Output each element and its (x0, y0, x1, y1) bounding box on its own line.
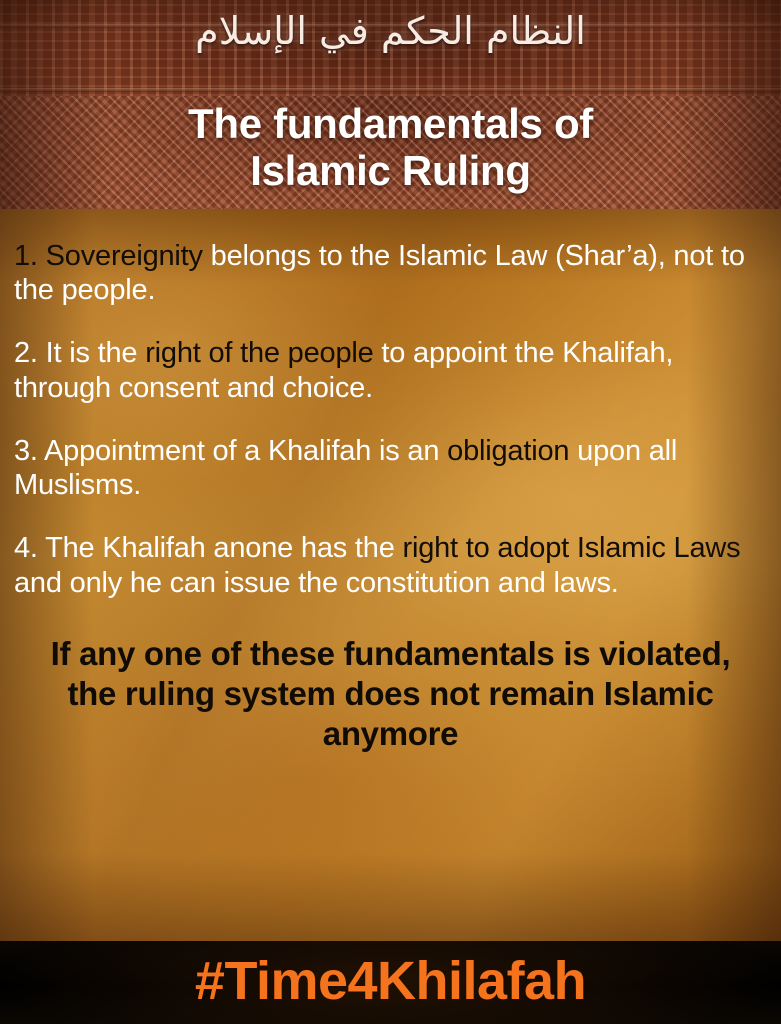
fundamental-point-2: 2. It is the right of the people to appo… (14, 336, 767, 404)
english-title-line-1: The fundamentals of (0, 100, 781, 147)
poster-body: 1. Sovereignity belongs to the Islamic L… (0, 209, 781, 941)
poster-header: النظام الحكم في الإسلام The fundamentals… (0, 0, 781, 209)
conclusion-statement: If any one of these fundamentals is viol… (14, 634, 767, 755)
english-title: The fundamentals of Islamic Ruling (0, 100, 781, 194)
body-content: 1. Sovereignity belongs to the Islamic L… (0, 209, 781, 941)
fundamental-point-4: 4. The Khalifah anone has the right to a… (14, 531, 767, 599)
point-text-run: right to adopt Islamic Laws (403, 532, 741, 564)
arabic-title: النظام الحكم في الإسلام (0, 8, 781, 56)
point-text-run: obligation (447, 435, 569, 467)
poster-footer: #Time4Khilafah (0, 941, 781, 1024)
hashtag-banner: #Time4Khilafah (0, 941, 781, 1024)
point-text-run: 2. It is the (14, 337, 145, 369)
fundamental-point-1: 1. Sovereignity belongs to the Islamic L… (14, 239, 767, 307)
point-text-run: 3. Appointment of a Khalifah is an (14, 435, 447, 467)
point-text-run: 4. The Khalifah anone has the (14, 532, 403, 564)
poster: النظام الحكم في الإسلام The fundamentals… (0, 0, 781, 1024)
fundamental-point-3: 3. Appointment of a Khalifah is an oblig… (14, 434, 767, 502)
point-text-run: right of the people (145, 337, 373, 369)
point-text-run: 1. Sovereignity (14, 240, 203, 272)
english-title-line-2: Islamic Ruling (0, 147, 781, 194)
point-text-run: and only he can issue the constitution a… (14, 567, 619, 599)
